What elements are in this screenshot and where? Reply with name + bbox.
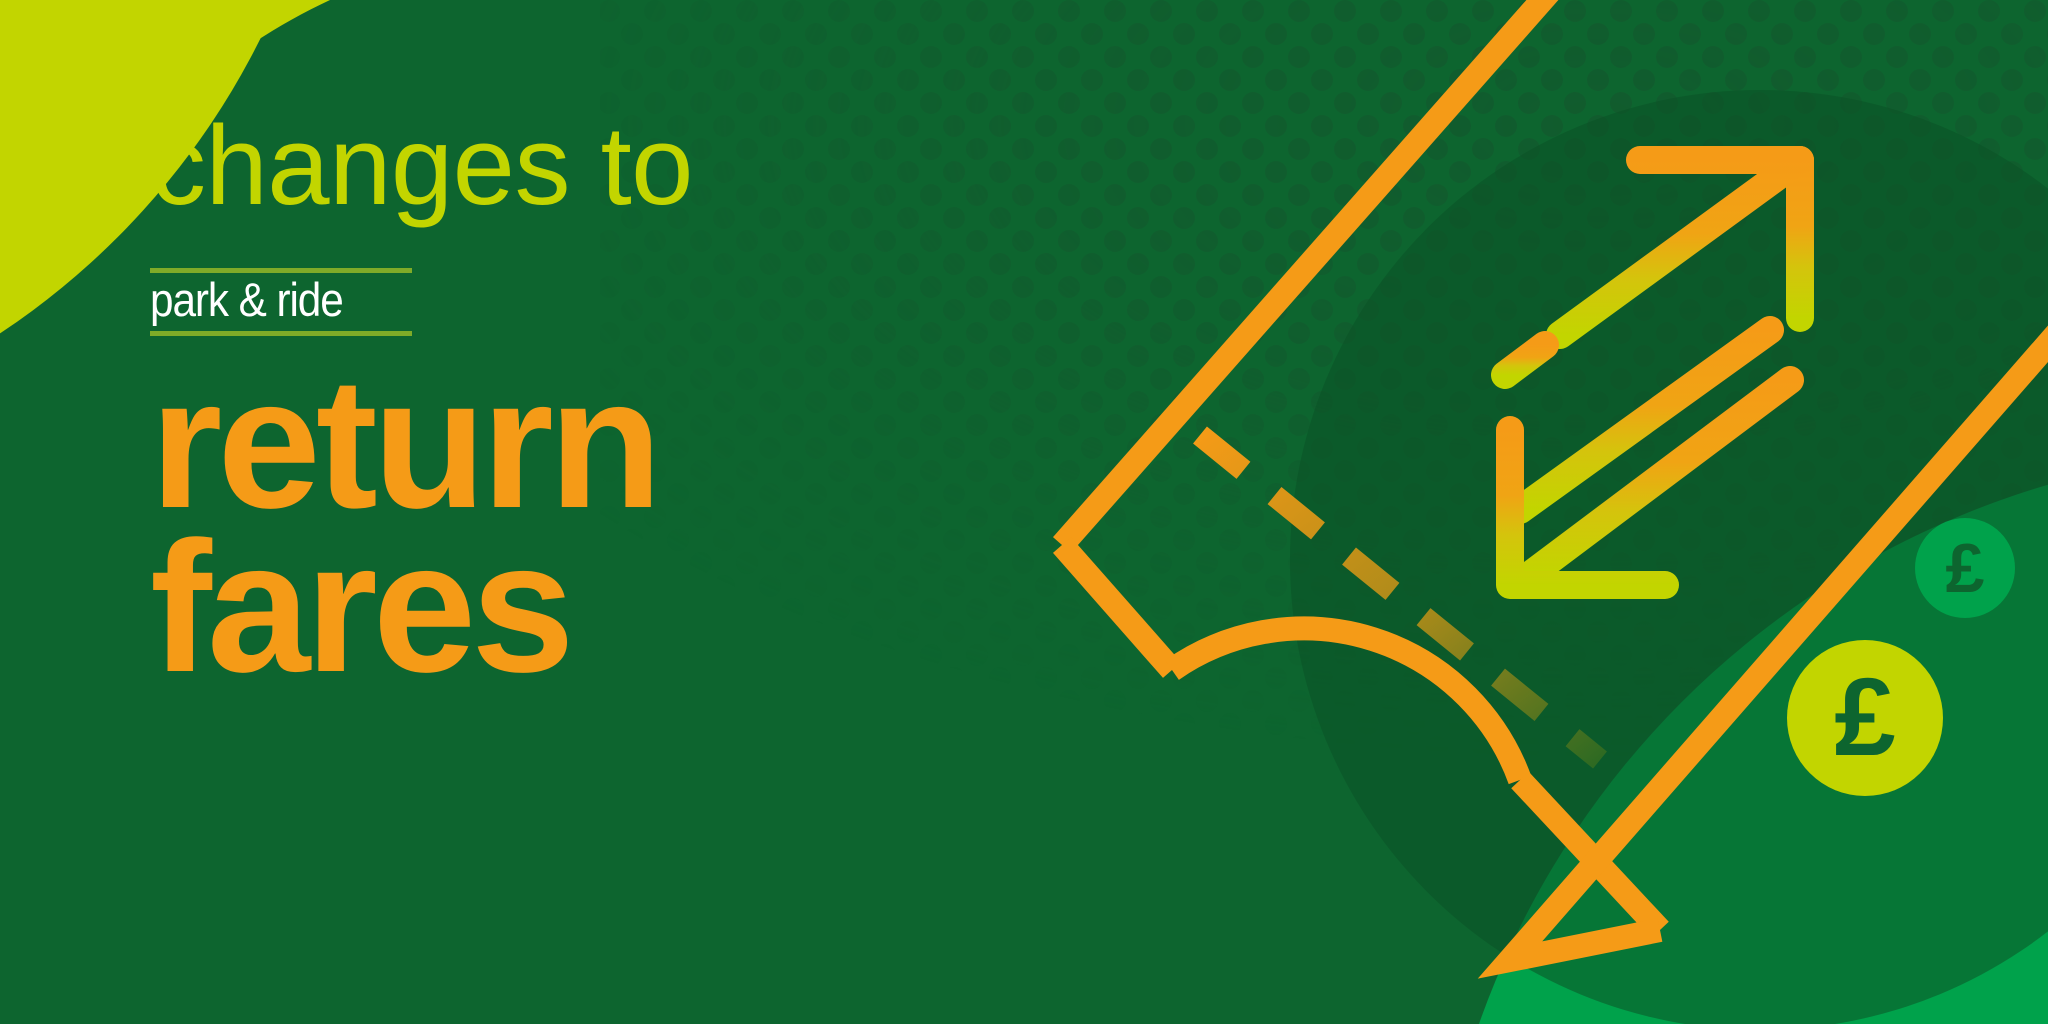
brand-lockup: park & ride (150, 268, 412, 336)
ticket-corner-bottom (1510, 330, 2048, 960)
double-headed-arrow (1505, 160, 1800, 585)
arrow-shaft-upper (1560, 160, 1800, 335)
ticket-edge-top (1062, 0, 1560, 545)
promo-banner: £ £ changes to park & ride return fares (0, 0, 2048, 1024)
ticket-edge-left (1062, 545, 1172, 670)
headline-group: changes to park & ride return fares (150, 110, 910, 689)
headline-line-fares: fares (150, 526, 910, 690)
brand-label: park & ride (150, 276, 386, 324)
svg-text:£: £ (1834, 656, 1895, 779)
pound-coin-large: £ (1787, 640, 1943, 796)
arrow-shaft-dash (1505, 345, 1545, 375)
kicker-text: changes to (150, 110, 910, 222)
headline-line-return: return (150, 362, 910, 526)
svg-text:£: £ (1946, 529, 1985, 607)
pound-coin-small: £ (1915, 518, 2015, 618)
ticket-notch-semicircle (1172, 628, 1520, 780)
